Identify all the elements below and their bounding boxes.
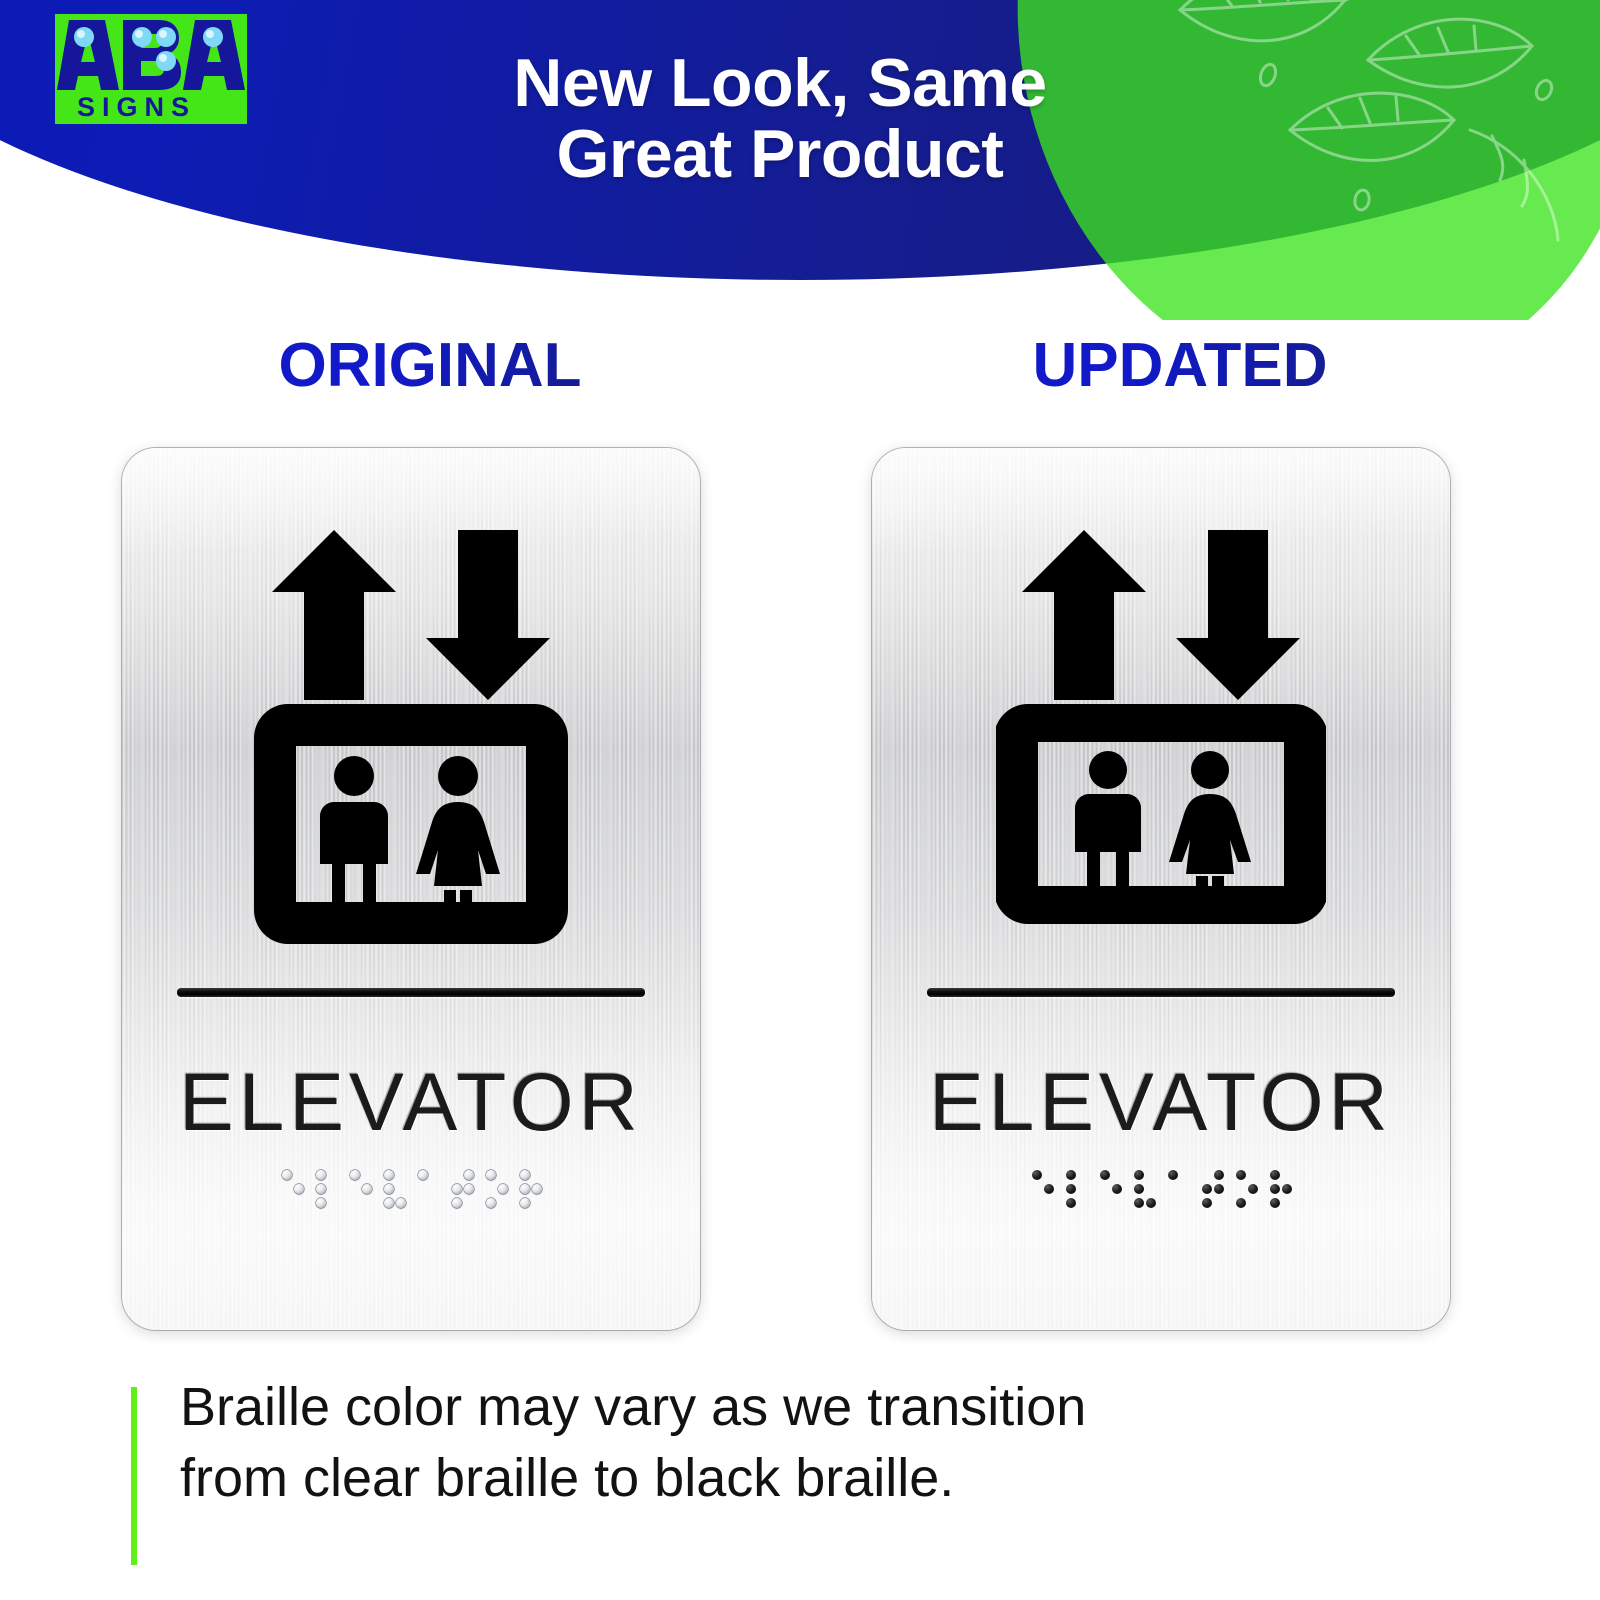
braille-dot [316,1184,326,1194]
caption-accent-bar [131,1387,137,1565]
braille-dot [1270,1184,1280,1194]
label-original: ORIGINAL [150,330,710,401]
braille-dot [452,1198,462,1208]
braille-row-original [122,1170,700,1232]
braille-cell [316,1170,337,1222]
braille-dot [384,1198,394,1208]
braille-dot [520,1170,530,1180]
braille-cell [418,1170,439,1222]
label-updated: UPDATED [900,330,1460,401]
braille-dot [1270,1198,1280,1208]
sign-plate-original: ELEVATOR [122,448,700,1330]
braille-dot [464,1170,474,1180]
aba-signs-logo: SIGNS [55,14,247,124]
braille-cell [520,1170,541,1222]
elevator-up-down-icon [246,504,576,944]
braille-dot [498,1184,508,1194]
braille-dot [464,1184,474,1194]
braille-cell [1270,1170,1291,1222]
caption-note: Braille color may vary as we transition … [180,1372,1490,1515]
page-title-line-1: New Look, Same [330,48,1230,119]
sign-text-updated: ELEVATOR [872,1056,1450,1150]
braille-dot [1134,1198,1144,1208]
braille-dot [282,1170,292,1180]
braille-cell [1236,1170,1257,1222]
braille-cell [1032,1170,1053,1222]
braille-dot [532,1184,542,1194]
braille-dot [520,1198,530,1208]
braille-dot [1134,1170,1144,1180]
braille-dot [294,1184,304,1194]
braille-dot [384,1170,394,1180]
braille-cell [1066,1170,1087,1222]
braille-dot [486,1198,496,1208]
braille-dot [520,1184,530,1194]
braille-dot [1044,1184,1054,1194]
braille-dot [1282,1184,1292,1194]
braille-dot [1100,1170,1110,1180]
sign-divider-bar [177,988,645,997]
braille-dot [1248,1184,1258,1194]
braille-dot [350,1170,360,1180]
caption-line-1: Braille color may vary as we transition [180,1372,1490,1443]
braille-dot [316,1198,326,1208]
braille-cell [486,1170,507,1222]
braille-cell [350,1170,371,1222]
braille-dot [362,1184,372,1194]
braille-cell [1100,1170,1121,1222]
braille-row-updated [872,1170,1450,1232]
braille-dot [1146,1198,1156,1208]
braille-cell [452,1170,473,1222]
braille-dot [1112,1184,1122,1194]
sign-plate-updated: ELEVATOR [872,448,1450,1330]
page-title: New Look, Same Great Product [330,48,1230,189]
braille-dot [1236,1170,1246,1180]
logo-mark-icon: SIGNS [55,14,247,124]
braille-dot [1270,1170,1280,1180]
caption-line-2: from clear braille to black braille. [180,1443,1490,1514]
braille-dot [1066,1184,1076,1194]
braille-dot [1168,1170,1178,1180]
sign-divider-bar [927,988,1395,997]
braille-dot [486,1170,496,1180]
braille-dot [1214,1184,1224,1194]
braille-cell [1202,1170,1223,1222]
braille-dot [316,1170,326,1180]
braille-dot [1202,1184,1212,1194]
braille-dot [384,1184,394,1194]
braille-dot [452,1184,462,1194]
braille-dot [1202,1198,1212,1208]
braille-dot [1214,1170,1224,1180]
braille-dot [396,1198,406,1208]
braille-dot [1066,1198,1076,1208]
page-title-line-2: Great Product [330,119,1230,190]
braille-dot [1066,1170,1076,1180]
braille-dot [1032,1170,1042,1180]
braille-cell [282,1170,303,1222]
sign-text-original: ELEVATOR [122,1056,700,1150]
elevator-up-down-icon [996,504,1326,944]
braille-dot [418,1170,428,1180]
svg-text:SIGNS: SIGNS [77,92,196,122]
braille-cell [1134,1170,1155,1222]
braille-dot [1134,1184,1144,1194]
braille-cell [384,1170,405,1222]
braille-cell [1168,1170,1189,1222]
braille-dot [1236,1198,1246,1208]
